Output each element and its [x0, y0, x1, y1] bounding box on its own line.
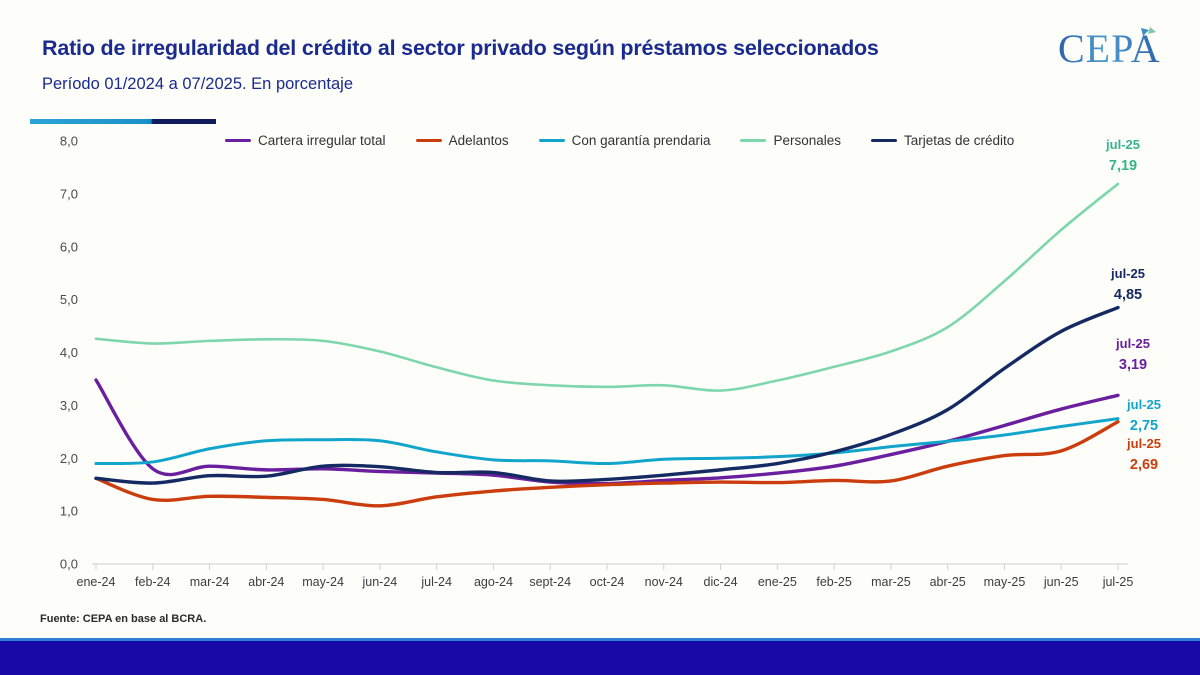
y-axis-tick-label: 3,0 — [60, 398, 78, 413]
annotation-value: 4,85 — [1114, 287, 1142, 303]
x-axis-tick-label: ago-24 — [474, 575, 513, 589]
series-line-personales[interactable] — [96, 184, 1118, 391]
x-axis-tick-label: jul-24 — [420, 575, 452, 589]
series-line-cartera-irregular-total[interactable] — [96, 380, 1118, 484]
x-axis-tick-label: dic-24 — [704, 575, 738, 589]
y-axis-tick-label: 6,0 — [60, 239, 78, 254]
x-axis-tick-label: jul-25 — [1102, 575, 1134, 589]
y-axis-tick-label: 1,0 — [60, 504, 78, 519]
annotation-value: 3,19 — [1119, 357, 1147, 373]
annotation-month: jul-25 — [1126, 436, 1161, 451]
x-axis-tick-label: mar-25 — [871, 575, 911, 589]
y-axis-tick-label: 4,0 — [60, 345, 78, 360]
annotation-value: 2,75 — [1130, 418, 1158, 434]
bottom-bar — [0, 641, 1200, 675]
annotation-month: jul-25 — [1105, 137, 1140, 152]
x-axis-tick-label: mar-24 — [190, 575, 230, 589]
source-note: Fuente: CEPA en base al BCRA. — [40, 613, 206, 625]
x-axis-tick-label: may-24 — [302, 575, 344, 589]
x-axis-tick-label: ene-24 — [77, 575, 116, 589]
annotation-personales: jul-257,19 — [1105, 137, 1140, 174]
x-axis-tick-label: jun-25 — [1043, 575, 1079, 589]
series-line-con-garant-a-prendaria[interactable] — [96, 419, 1118, 464]
x-axis-tick-label: feb-24 — [135, 575, 170, 589]
x-axis-tick-label: oct-24 — [590, 575, 625, 589]
x-axis-tick-label: nov-24 — [645, 575, 683, 589]
x-axis-tick-label: abr-25 — [930, 575, 966, 589]
x-axis-tick-label: may-25 — [984, 575, 1026, 589]
annotation-month: jul-25 — [1110, 266, 1145, 281]
chart-canvas: 0,01,02,03,04,05,06,07,08,0ene-24feb-24m… — [0, 0, 1200, 640]
x-axis-tick-label: sept-24 — [529, 575, 571, 589]
y-axis-tick-label: 2,0 — [60, 451, 78, 466]
x-axis-tick-label: feb-25 — [816, 575, 851, 589]
slide-root: Ratio de irregularidad del crédito al se… — [0, 0, 1200, 675]
annotation-value: 7,19 — [1109, 158, 1137, 174]
annotation-month: jul-25 — [1126, 397, 1161, 412]
annotation-cartera-irregular-total: jul-253,19 — [1115, 336, 1150, 373]
y-axis-tick-label: 0,0 — [60, 557, 78, 572]
annotation-adelantos: jul-252,69 — [1126, 436, 1161, 473]
line-chart: 0,01,02,03,04,05,06,07,08,0ene-24feb-24m… — [0, 0, 1200, 640]
annotation-tarjetas-de-cr-dito: jul-254,85 — [1110, 266, 1145, 303]
x-axis-tick-label: jun-24 — [362, 575, 398, 589]
annotation-con-garant-a-prendaria: jul-252,75 — [1126, 397, 1161, 434]
annotation-month: jul-25 — [1115, 336, 1150, 351]
series-line-tarjetas-de-cr-dito[interactable] — [96, 308, 1118, 484]
y-axis-tick-label: 8,0 — [60, 134, 78, 149]
y-axis-tick-label: 5,0 — [60, 292, 78, 307]
x-axis-tick-label: abr-24 — [248, 575, 284, 589]
y-axis-tick-label: 7,0 — [60, 186, 78, 201]
annotation-value: 2,69 — [1130, 457, 1158, 473]
x-axis-tick-label: ene-25 — [758, 575, 797, 589]
